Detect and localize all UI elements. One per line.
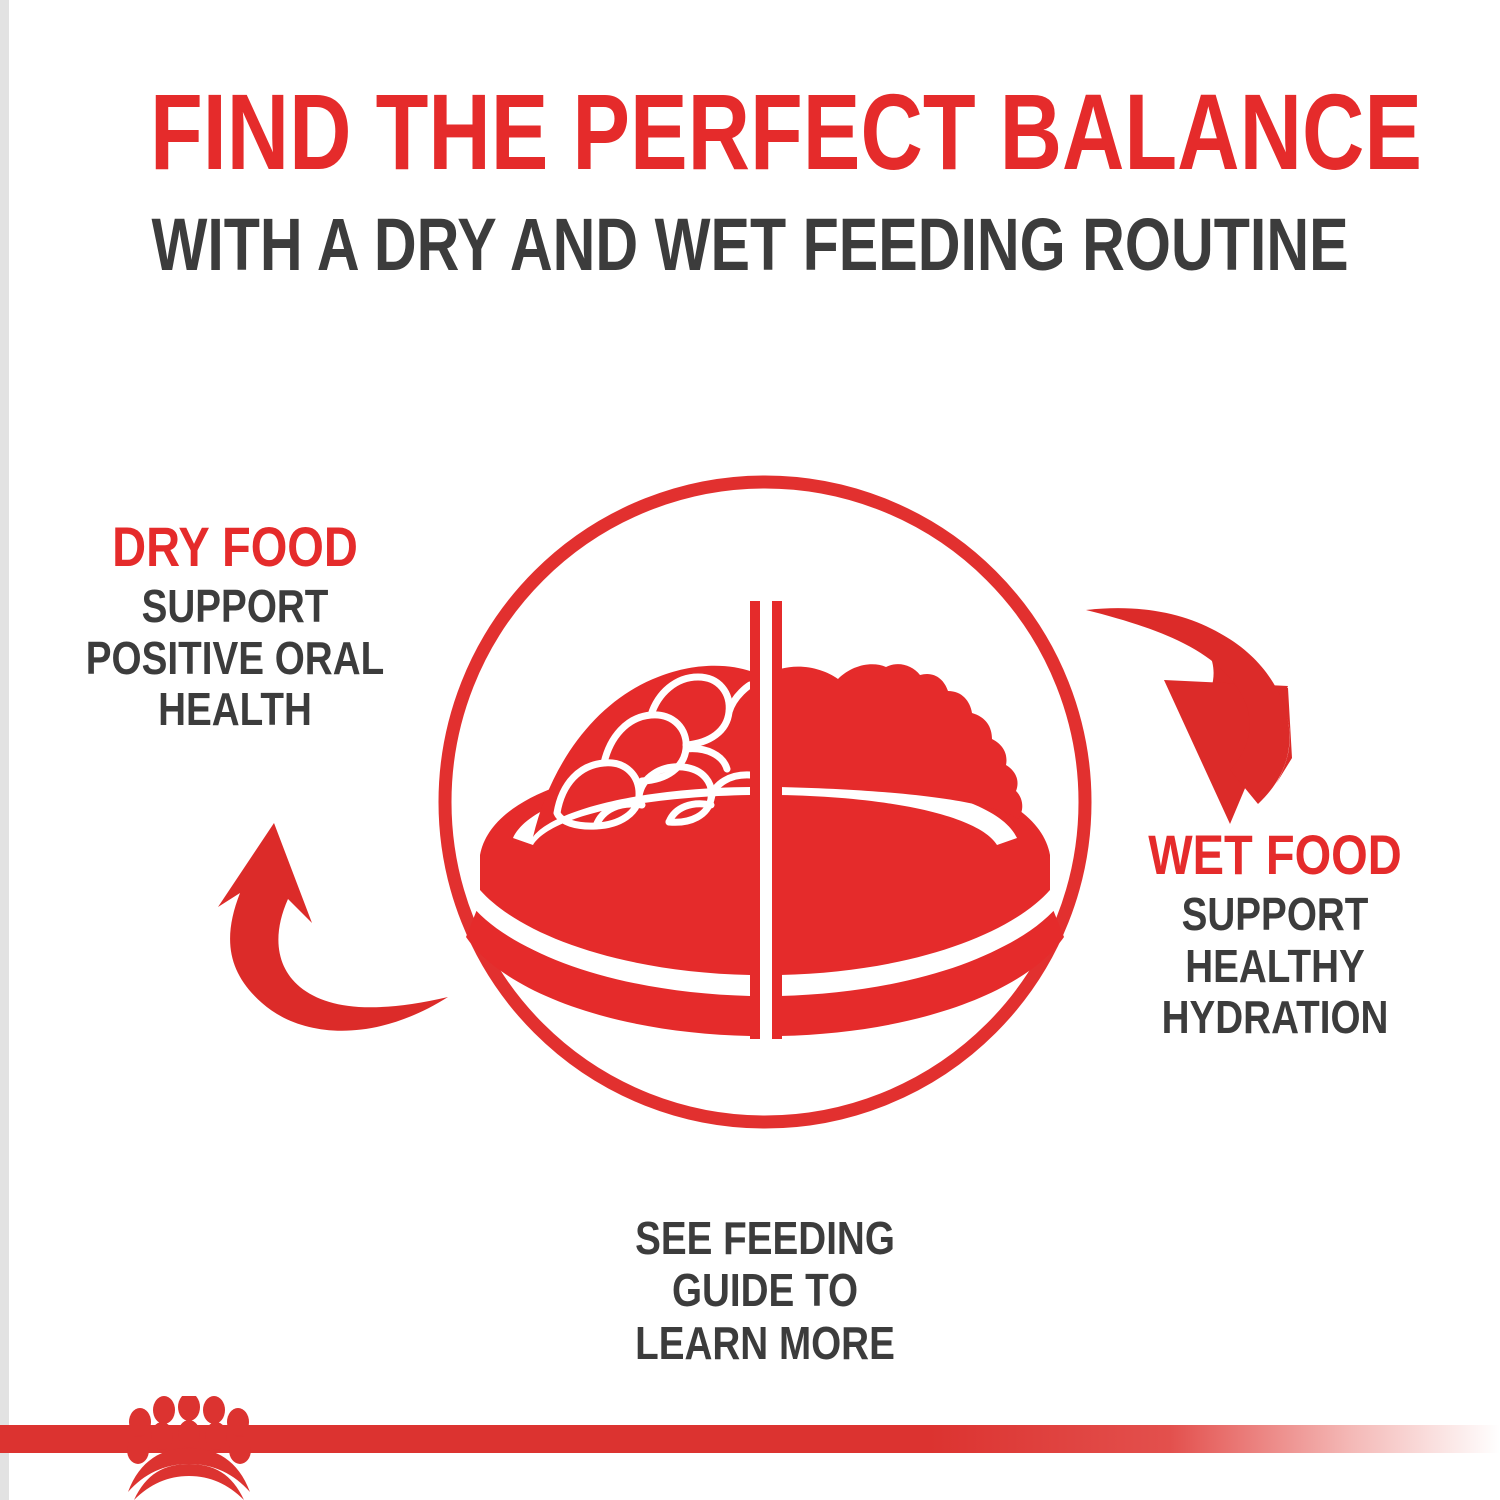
split-bowl-graphic bbox=[420, 465, 1110, 1155]
divider-gap bbox=[760, 595, 772, 1045]
bowl-right-wet-half bbox=[780, 664, 1064, 1036]
callout-dry-title: DRY FOOD bbox=[71, 518, 399, 575]
royal-canin-crown-paw-logo bbox=[104, 1396, 274, 1500]
feeding-guide-line-1: SEE FEEDING bbox=[568, 1212, 963, 1264]
feeding-guide-line-2: GUIDE TO bbox=[568, 1264, 963, 1316]
callout-dry-body: SUPPORT POSITIVE ORAL HEALTH bbox=[71, 581, 399, 736]
page-title: FIND THE PERFECT BALANCE bbox=[150, 78, 1350, 186]
header-block: FIND THE PERFECT BALANCE WITH A DRY AND … bbox=[0, 78, 1500, 282]
feeding-guide-line-3: LEARN MORE bbox=[568, 1317, 963, 1369]
callout-wet-food: WET FOOD SUPPORT HEALTHY HYDRATION bbox=[1075, 826, 1475, 1044]
callout-dry-line-2: POSITIVE ORAL bbox=[71, 633, 399, 685]
curved-arrow-up-left-icon bbox=[200, 815, 460, 1055]
callout-dry-line-3: HEALTH bbox=[71, 684, 399, 736]
bowl-left-dry-half bbox=[466, 666, 750, 1036]
curved-arrow-down-right-icon bbox=[1080, 588, 1350, 838]
callout-wet-line-1: SUPPORT HEALTHY bbox=[1107, 889, 1443, 992]
divider-line-left bbox=[750, 601, 760, 1039]
bowl-icon bbox=[466, 595, 1064, 1045]
divider-line-right bbox=[772, 601, 782, 1039]
callout-dry-food: DRY FOOD SUPPORT POSITIVE ORAL HEALTH bbox=[40, 518, 430, 736]
feeding-guide-note: SEE FEEDING GUIDE TO LEARN MORE bbox=[568, 1212, 963, 1369]
callout-wet-line-2: HYDRATION bbox=[1107, 992, 1443, 1044]
page-subtitle: WITH A DRY AND WET FEEDING ROUTINE bbox=[150, 208, 1350, 282]
infographic-page: FIND THE PERFECT BALANCE WITH A DRY AND … bbox=[0, 0, 1500, 1500]
callout-wet-body: SUPPORT HEALTHY HYDRATION bbox=[1107, 889, 1443, 1044]
callout-dry-line-1: SUPPORT bbox=[71, 581, 399, 633]
